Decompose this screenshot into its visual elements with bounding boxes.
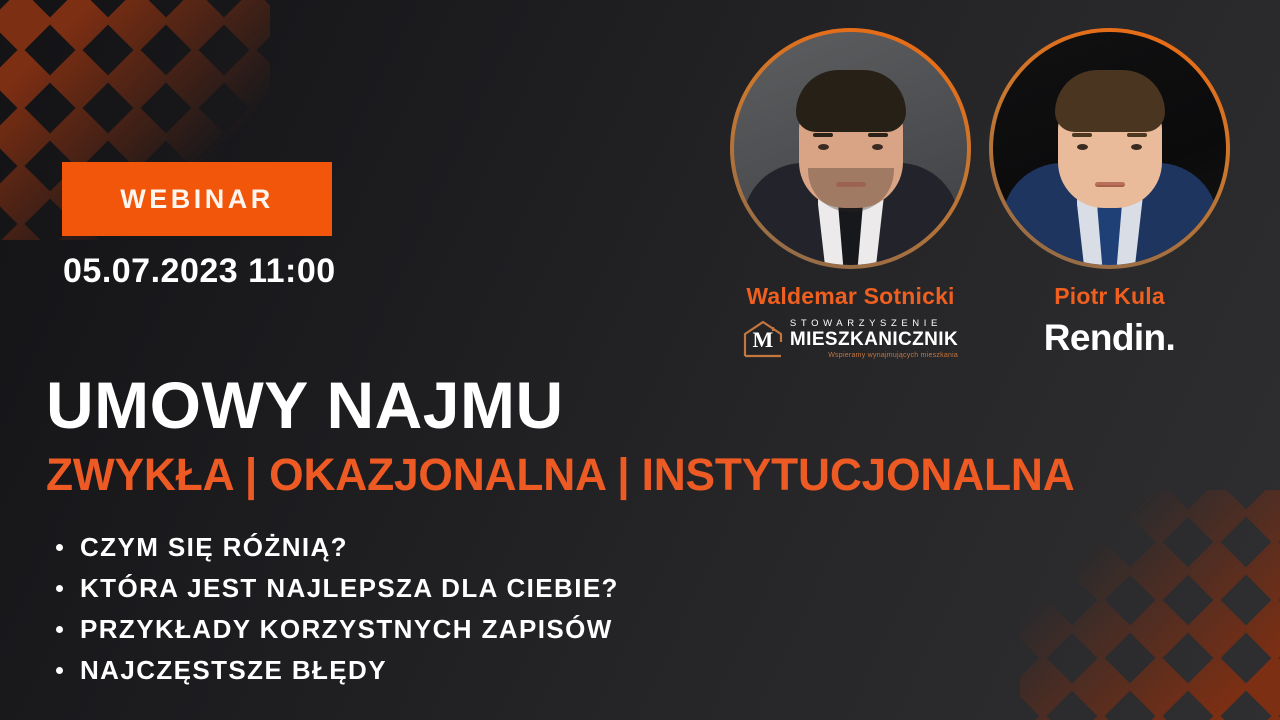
list-item-label: CZYM SIĘ RÓŻNIĄ?	[80, 534, 348, 560]
diamond-shape	[1242, 596, 1280, 661]
diamond-shape	[162, 46, 227, 111]
diamond-shape	[104, 46, 169, 111]
diamond-shape	[1068, 654, 1133, 719]
webinar-badge: WEBINAR	[62, 162, 332, 236]
list-item: PRZYKŁADY KORZYSTNYCH ZAPISÓW	[56, 616, 619, 642]
page-subtitle: ZWYKŁA | OKAZJONALNA | INSTYTUCJONALNA	[46, 452, 1075, 497]
diamond-shape	[1010, 596, 1075, 661]
diamond-shape	[1010, 538, 1075, 603]
avatar-eyebrow-left	[1072, 133, 1092, 137]
avatar-ring	[989, 28, 1230, 269]
topic-list: CZYM SIĘ RÓŻNIĄ? KTÓRA JEST NAJLEPSZA DL…	[56, 534, 619, 698]
diamond-shape	[0, 0, 54, 54]
diamond-pattern-bottom-right	[1020, 490, 1280, 720]
diamond-shape	[1184, 538, 1249, 603]
bullet-dot-icon	[56, 667, 63, 674]
bullet-dot-icon	[56, 626, 63, 633]
diamond-shape	[1126, 654, 1191, 719]
diamond-shape	[104, 0, 169, 54]
list-item: KTÓRA JEST NAJLEPSZA DLA CIEBIE?	[56, 575, 619, 601]
mieszkanicznik-monogram: M	[743, 329, 783, 351]
diamond-shape	[0, 220, 54, 285]
diamond-shape	[1126, 480, 1191, 545]
diamond-shape	[220, 104, 285, 169]
mieszkanicznik-main-word: MIESZKANICZNIK	[790, 330, 958, 349]
speaker-brand: M STOWARZYSZENIE MIESZKANICZNIK Wspieram…	[730, 319, 971, 359]
page-title: UMOWY NAJMU	[46, 372, 564, 438]
house-with-m-icon: M	[743, 320, 783, 358]
avatar-eye-right	[872, 144, 883, 150]
avatar	[734, 32, 967, 265]
mieszkanicznik-logo: M STOWARZYSZENIE MIESZKANICZNIK Wspieram…	[743, 319, 958, 359]
diamond-shape	[162, 0, 227, 54]
diamond-shape	[1068, 480, 1133, 545]
diamond-shape	[1126, 712, 1191, 720]
avatar	[993, 32, 1226, 265]
avatar-eye-right	[1131, 144, 1142, 150]
diamond-shape	[0, 104, 54, 169]
webinar-badge-label: WEBINAR	[120, 184, 274, 215]
event-datetime: 05.07.2023 11:00	[63, 252, 336, 291]
speaker-card-waldemar-sotnicki: Waldemar Sotnicki M STOWARZYSZENIE MIESZ…	[730, 28, 971, 359]
diamond-shape	[1010, 712, 1075, 720]
list-item-label: PRZYKŁADY KORZYSTNYCH ZAPISÓW	[80, 616, 613, 642]
diamond-shape	[1184, 480, 1249, 545]
list-item: CZYM SIĘ RÓŻNIĄ?	[56, 534, 619, 560]
list-item: NAJCZĘSTSZE BŁĘDY	[56, 657, 619, 683]
diamond-shape	[1126, 596, 1191, 661]
avatar-hair	[1055, 70, 1165, 132]
diamond-shape	[1010, 654, 1075, 719]
list-item-label: KTÓRA JEST NAJLEPSZA DLA CIEBIE?	[80, 575, 619, 601]
diamond-shape	[46, 0, 111, 54]
avatar-mouth	[836, 182, 866, 187]
avatar-eyebrow-right	[1127, 133, 1147, 137]
diamond-shape	[220, 46, 285, 111]
bullet-dot-icon	[56, 544, 63, 551]
diamond-shape	[162, 104, 227, 169]
webinar-poster: WEBINAR 05.07.2023 11:00 UMOWY NAJMU ZWY…	[0, 0, 1280, 720]
diamond-shape	[1242, 538, 1280, 603]
avatar-eyebrow-right	[868, 133, 888, 137]
diamond-shape	[0, 162, 54, 227]
avatar-eye-left	[1077, 144, 1088, 150]
diamond-shape	[1068, 538, 1133, 603]
diamond-shape	[104, 104, 169, 169]
diamond-shape	[1184, 712, 1249, 720]
mieszkanicznik-top-word: STOWARZYSZENIE	[790, 319, 958, 329]
diamond-shape	[1126, 538, 1191, 603]
avatar-mouth	[1095, 182, 1125, 187]
list-item-label: NAJCZĘSTSZE BŁĘDY	[80, 657, 387, 683]
speaker-name: Piotr Kula	[989, 283, 1230, 310]
diamond-shape	[220, 0, 285, 54]
speaker-brand: Rendin.	[989, 319, 1230, 356]
diamond-shape	[46, 104, 111, 169]
diamond-shape	[0, 46, 54, 111]
diamond-shape	[1068, 596, 1133, 661]
diamond-shape	[1184, 654, 1249, 719]
diamond-shape	[1184, 596, 1249, 661]
speaker-card-piotr-kula: Piotr Kula Rendin.	[989, 28, 1230, 359]
bullet-dot-icon	[56, 585, 63, 592]
diamond-shape	[1068, 712, 1133, 720]
avatar-eyebrow-left	[813, 133, 833, 137]
avatar-eye-left	[818, 144, 829, 150]
diamond-shape	[1242, 654, 1280, 719]
rendin-logo: Rendin.	[1044, 319, 1175, 356]
diamond-shape	[1242, 480, 1280, 545]
avatar-ring	[730, 28, 971, 269]
avatar-hair	[796, 70, 906, 132]
speaker-name: Waldemar Sotnicki	[730, 283, 971, 310]
diamond-shape	[46, 46, 111, 111]
mieszkanicznik-tagline: Wspieramy wynajmujących mieszkania	[790, 352, 958, 359]
diamond-shape	[1242, 712, 1280, 720]
mieszkanicznik-wordmark: STOWARZYSZENIE MIESZKANICZNIK Wspieramy …	[790, 319, 958, 359]
speakers-section: Waldemar Sotnicki M STOWARZYSZENIE MIESZ…	[730, 28, 1230, 359]
